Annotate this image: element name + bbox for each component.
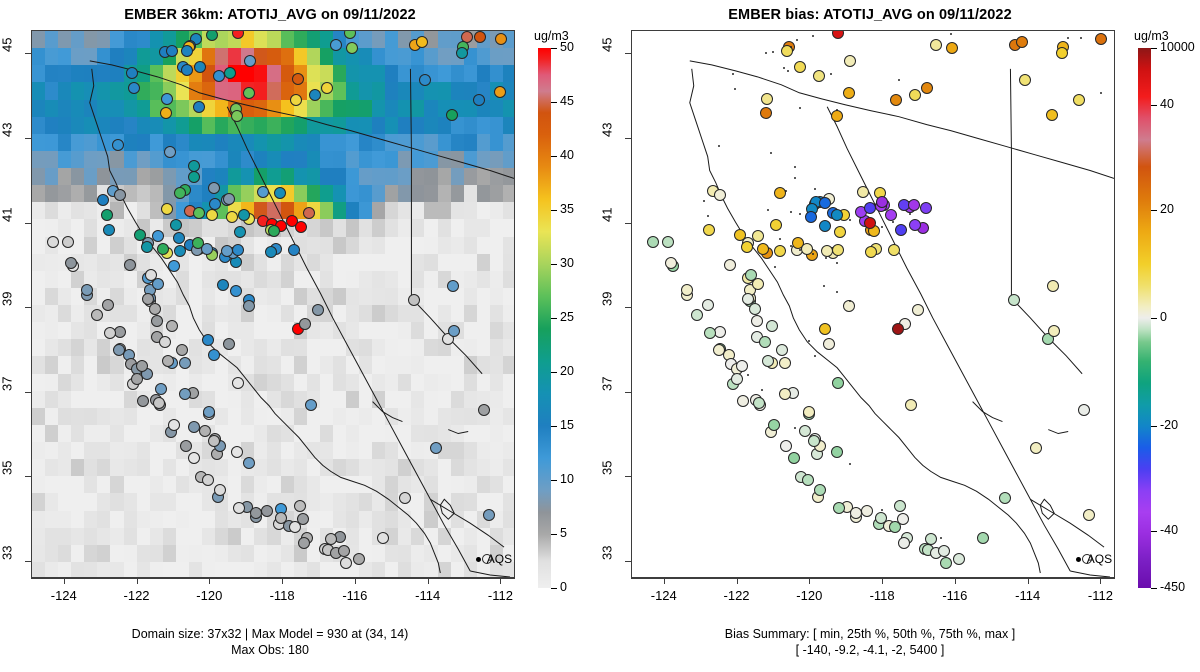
station-marker — [1078, 404, 1090, 416]
station-marker — [274, 187, 286, 199]
y-label-wrap: 39 — [600, 298, 624, 316]
station-marker — [137, 395, 149, 407]
station-marker — [1016, 36, 1028, 48]
station-marker — [832, 377, 844, 389]
station-marker — [898, 79, 900, 81]
station-marker — [779, 388, 791, 400]
y-tick-label: 39 — [600, 292, 615, 338]
y-label-wrap: 41 — [600, 214, 624, 232]
station-marker — [774, 266, 776, 268]
x-tick-label: -122 — [107, 588, 167, 603]
colorbar-tick — [551, 264, 557, 265]
station-marker — [104, 327, 116, 339]
y-label-wrap: 43 — [600, 129, 624, 147]
station-marker — [495, 33, 507, 45]
colorbar-tick-label: 35 — [560, 202, 574, 216]
station-marker — [814, 355, 816, 357]
station-marker — [268, 225, 280, 237]
station-marker — [736, 360, 748, 372]
aqs-dot-icon — [476, 557, 481, 562]
station-marker — [909, 219, 921, 231]
y-label-wrap: 37 — [0, 383, 24, 401]
station-marker — [761, 389, 763, 391]
station-marker — [704, 327, 716, 339]
x-tick — [809, 578, 810, 584]
station-marker — [921, 82, 933, 94]
station-marker — [823, 338, 835, 350]
colorbar-tick-label: 0 — [560, 580, 567, 594]
station-marker — [897, 513, 909, 525]
station-marker — [180, 440, 192, 452]
station-marker — [1073, 94, 1085, 106]
station-marker — [231, 110, 243, 122]
x-tick-label: -114 — [998, 588, 1058, 603]
station-marker — [152, 230, 164, 242]
station-marker — [325, 533, 337, 545]
station-marker — [478, 404, 490, 416]
y-tick-label: 35 — [0, 461, 15, 507]
station-marker — [101, 209, 113, 221]
station-marker — [1008, 294, 1020, 306]
x-tick — [428, 578, 429, 584]
station-marker — [865, 246, 877, 258]
model-caption: Domain size: 37x32 | Max Model = 930 at … — [0, 626, 540, 658]
y-tick — [625, 307, 631, 308]
x-tick — [64, 578, 65, 584]
station-marker — [155, 383, 167, 395]
station-marker — [188, 171, 200, 183]
colorbar-tick — [1151, 531, 1157, 532]
station-marker — [909, 213, 911, 215]
station-marker — [162, 355, 174, 367]
y-tick-label: 37 — [0, 376, 15, 422]
station-marker — [892, 323, 904, 335]
x-tick-label: -120 — [179, 588, 239, 603]
station-marker — [164, 146, 176, 158]
station-marker — [194, 61, 206, 73]
colorbar-tick-label: 0 — [1160, 310, 1167, 324]
bias-y-axis — [631, 30, 632, 578]
station-marker — [718, 145, 720, 147]
x-tick-label: -124 — [634, 588, 694, 603]
station-marker — [774, 245, 786, 257]
station-marker — [920, 202, 932, 214]
colorbar-tick-label: 10 — [560, 472, 574, 486]
station-marker — [153, 397, 165, 409]
station-marker — [768, 419, 780, 431]
colorbar-tick-label: -40 — [1160, 523, 1178, 537]
station-marker — [857, 186, 869, 198]
station-marker — [179, 388, 191, 400]
station-marker — [864, 217, 876, 229]
panel-model: EMBER 36km: ATOTIJ_AVG on 09/11/2022 — [0, 0, 600, 672]
station-marker — [831, 110, 843, 122]
y-tick-label: 33 — [600, 546, 615, 592]
colorbar-tick-label: 50 — [560, 40, 574, 54]
station-marker — [208, 435, 220, 447]
station-marker — [770, 219, 782, 231]
station-marker — [780, 440, 792, 452]
station-marker — [737, 395, 749, 407]
station-marker — [909, 89, 921, 101]
station-marker — [752, 230, 764, 242]
y-label-wrap: 37 — [600, 383, 624, 401]
station-marker — [208, 349, 220, 361]
station-marker — [209, 198, 221, 210]
y-tick-label: 39 — [0, 292, 15, 338]
station-marker — [232, 377, 244, 389]
station-marker — [888, 244, 900, 256]
x-tick — [737, 578, 738, 584]
station-marker — [447, 280, 459, 292]
station-marker — [707, 215, 709, 217]
station-marker — [221, 245, 233, 257]
station-marker — [814, 188, 816, 190]
station-marker — [261, 505, 273, 517]
aqs-ring-icon — [1082, 554, 1092, 564]
colorbar-tick — [551, 102, 557, 103]
station-marker — [161, 203, 173, 215]
panel-bias-plot: AQS — [631, 30, 1115, 578]
station-marker — [161, 93, 173, 105]
model-x-axis — [31, 578, 515, 579]
station-marker — [136, 360, 148, 372]
station-marker — [1080, 37, 1082, 39]
station-marker — [940, 537, 942, 539]
station-marker — [776, 344, 788, 356]
colorbar-tick — [551, 210, 557, 211]
station-marker — [202, 474, 214, 486]
y-tick-label: 45 — [0, 38, 15, 84]
colorbar-tick — [551, 156, 557, 157]
model-colorbar-gradient — [538, 48, 551, 588]
station-marker — [244, 55, 256, 67]
y-tick — [625, 561, 631, 562]
station-marker — [864, 202, 876, 214]
station-marker — [836, 262, 838, 264]
panel-bias: EMBER bias: ATOTIJ_AVG on 09/11/2022 AQ — [600, 0, 1200, 672]
x-tick-label: -122 — [707, 588, 767, 603]
colorbar-tick-label: 40 — [1160, 97, 1174, 111]
aqs-ring-icon — [482, 554, 492, 564]
station-marker — [908, 199, 920, 211]
y-label-wrap: 33 — [0, 552, 24, 570]
station-marker — [772, 51, 774, 53]
x-tick-label: -124 — [34, 588, 94, 603]
station-marker — [761, 93, 773, 105]
colorbar-tick — [551, 372, 557, 373]
figure-canvas: EMBER 36km: ATOTIJ_AVG on 09/11/2022 — [0, 0, 1200, 672]
station-marker — [765, 52, 767, 54]
station-marker — [753, 397, 765, 409]
y-label-wrap: 45 — [0, 44, 24, 62]
colorbar-tick — [1151, 210, 1157, 211]
y-tick-label: 33 — [0, 546, 15, 592]
station-marker — [802, 474, 814, 486]
x-tick-label: -118 — [852, 588, 912, 603]
station-marker — [898, 537, 910, 549]
colorbar-tick — [1151, 318, 1157, 319]
station-marker — [303, 207, 315, 219]
colorbar-tick-label: 30 — [560, 256, 574, 270]
station-marker — [217, 279, 229, 291]
station-marker — [794, 427, 796, 429]
x-tick-label: -118 — [252, 588, 312, 603]
y-tick-label: 45 — [600, 38, 615, 84]
station-marker — [408, 294, 420, 306]
station-marker — [243, 457, 255, 469]
station-marker — [223, 193, 235, 205]
station-marker — [794, 177, 796, 179]
y-tick — [25, 223, 31, 224]
station-marker — [821, 245, 833, 257]
station-marker — [166, 45, 178, 57]
station-marker — [297, 513, 309, 525]
x-tick-label: -120 — [779, 588, 839, 603]
station-marker — [299, 318, 311, 330]
aqs-dot-icon — [1076, 557, 1081, 562]
station-marker — [734, 88, 736, 90]
station-marker — [213, 70, 225, 82]
station-marker — [181, 64, 193, 76]
bias-caption-line2: [ -140, -9.2, -4.1, -2, 5400 ] — [600, 642, 1140, 658]
x-tick — [882, 578, 883, 584]
colorbar-tick — [551, 48, 557, 49]
station-marker — [849, 300, 851, 302]
station-marker — [223, 338, 235, 350]
y-label-wrap: 33 — [600, 552, 624, 570]
x-tick — [1028, 578, 1029, 584]
station-marker — [745, 269, 757, 281]
y-label-wrap: 41 — [0, 214, 24, 232]
station-marker — [831, 209, 843, 221]
station-marker — [895, 224, 907, 236]
colorbar-tick — [1151, 588, 1157, 589]
station-marker — [779, 357, 791, 369]
colorbar-tick-label: 45 — [560, 94, 574, 108]
station-marker — [321, 82, 333, 94]
colorbar-tick — [1151, 105, 1157, 106]
station-marker — [288, 244, 300, 256]
station-marker — [1083, 509, 1095, 521]
station-marker — [170, 219, 182, 231]
station-marker — [1095, 33, 1107, 45]
y-tick — [25, 392, 31, 393]
station-marker — [849, 463, 851, 465]
x-tick — [209, 578, 210, 584]
station-marker — [823, 285, 825, 287]
x-tick-label: -116 — [325, 588, 385, 603]
y-tick — [25, 476, 31, 477]
y-label-wrap: 35 — [600, 467, 624, 485]
x-tick — [664, 578, 665, 584]
station-marker — [176, 344, 188, 356]
station-marker — [416, 36, 428, 48]
y-tick-label: 43 — [0, 122, 15, 168]
station-marker — [494, 86, 506, 98]
panel-model-title: EMBER 36km: ATOTIJ_AVG on 09/11/2022 — [0, 7, 540, 23]
station-marker — [208, 182, 220, 194]
station-marker — [805, 211, 817, 223]
x-tick — [282, 578, 283, 584]
x-tick — [955, 578, 956, 584]
station-marker — [747, 374, 749, 376]
station-marker — [813, 70, 825, 82]
y-tick — [625, 53, 631, 54]
colorbar-tick-label: -450 — [1160, 580, 1185, 594]
colorbar-tick — [551, 588, 557, 589]
station-marker — [145, 269, 157, 281]
y-tick-label: 43 — [600, 122, 615, 168]
station-marker — [134, 229, 146, 241]
x-tick — [1100, 578, 1101, 584]
y-label-wrap: 43 — [0, 129, 24, 147]
x-tick — [137, 578, 138, 584]
panel-bias-title: EMBER bias: ATOTIJ_AVG on 09/11/2022 — [600, 7, 1140, 23]
x-tick-label: -116 — [925, 588, 985, 603]
station-marker — [474, 31, 486, 43]
colorbar-tick — [551, 318, 557, 319]
y-tick — [25, 53, 31, 54]
model-colorbar: ug/m3 05101520253035404550 — [538, 30, 598, 578]
y-tick-label: 35 — [600, 461, 615, 507]
colorbar-tick-label: 25 — [560, 310, 574, 324]
station-marker — [201, 243, 213, 255]
station-marker — [783, 67, 785, 69]
station-marker — [767, 209, 769, 211]
y-label-wrap: 45 — [600, 44, 624, 62]
x-tick — [355, 578, 356, 584]
x-tick-label: -112 — [1070, 588, 1130, 603]
station-marker — [168, 419, 180, 431]
station-marker — [1047, 280, 1059, 292]
x-tick — [500, 578, 501, 584]
y-label-wrap: 39 — [0, 298, 24, 316]
station-marker — [762, 355, 774, 367]
y-tick — [25, 561, 31, 562]
station-marker — [174, 245, 186, 257]
station-marker — [483, 509, 495, 521]
station-marker — [399, 492, 411, 504]
station-marker — [785, 190, 787, 192]
colorbar-tick — [1151, 48, 1157, 49]
model-caption-line1: Domain size: 37x32 | Max Model = 930 at … — [0, 626, 540, 642]
station-marker — [861, 505, 873, 517]
station-marker — [999, 492, 1011, 504]
bias-colorbar: ug/m3 1000040200-20-40-450 — [1138, 30, 1198, 578]
station-marker — [128, 82, 140, 94]
station-marker — [257, 186, 269, 198]
colorbar-tick-label: 20 — [1160, 202, 1174, 216]
bias-caption-line1: Bias Summary: [ min, 25th %, 50th %, 75t… — [600, 626, 1140, 642]
station-marker — [112, 139, 124, 151]
station-marker — [265, 246, 277, 258]
colorbar-tick-label: -20 — [1160, 418, 1178, 432]
station-marker — [430, 442, 442, 454]
y-tick — [625, 392, 631, 393]
station-marker — [473, 94, 485, 106]
station-marker — [794, 61, 806, 73]
station-marker — [179, 357, 191, 369]
y-tick-label: 41 — [0, 207, 15, 253]
station-marker — [292, 73, 304, 85]
station-marker — [801, 243, 813, 255]
bias-caption: Bias Summary: [ min, 25th %, 50th %, 75t… — [600, 626, 1140, 658]
colorbar-tick-label: 20 — [560, 364, 574, 378]
y-label-wrap: 35 — [0, 467, 24, 485]
station-marker — [298, 537, 310, 549]
y-tick — [25, 307, 31, 308]
colorbar-tick-label: 10000 — [1160, 40, 1195, 54]
station-marker — [309, 89, 321, 101]
station-marker — [844, 55, 856, 67]
station-marker — [1030, 442, 1042, 454]
model-caption-line2: Max Obs: 180 — [0, 642, 540, 658]
y-tick-label: 37 — [600, 376, 615, 422]
y-tick — [625, 223, 631, 224]
bias-x-axis — [631, 578, 1115, 579]
model-y-axis — [31, 30, 32, 578]
x-tick-label: -114 — [398, 588, 458, 603]
station-marker — [925, 533, 937, 545]
station-marker — [734, 229, 746, 241]
y-tick-label: 41 — [600, 207, 615, 253]
y-tick — [625, 138, 631, 139]
colorbar-tick — [551, 534, 557, 535]
x-tick-label: -112 — [470, 588, 530, 603]
colorbar-tick — [551, 426, 557, 427]
colorbar-tick — [1151, 426, 1157, 427]
station-marker — [808, 435, 820, 447]
colorbar-tick — [551, 480, 557, 481]
colorbar-tick-label: 40 — [560, 148, 574, 162]
station-marker — [168, 260, 180, 272]
y-tick — [625, 476, 631, 477]
colorbar-tick-label: 15 — [560, 418, 574, 432]
station-marker — [243, 300, 255, 312]
bias-colorbar-gradient — [1138, 48, 1151, 588]
panel-model-plot: AQS — [31, 30, 515, 578]
colorbar-tick-label: 5 — [560, 526, 567, 540]
station-marker — [230, 285, 242, 297]
y-tick — [25, 138, 31, 139]
